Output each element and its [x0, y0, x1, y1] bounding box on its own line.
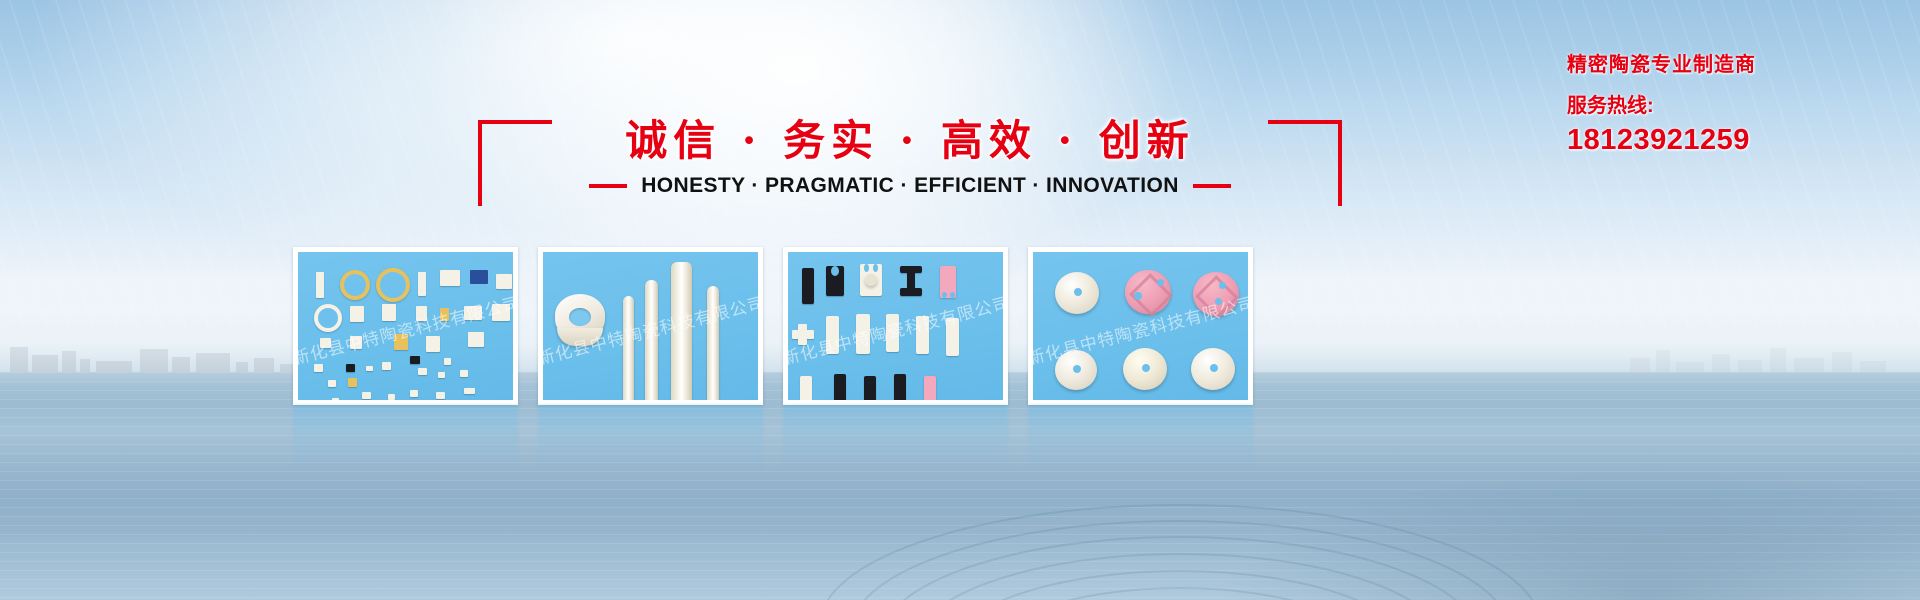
contact-block: 精密陶瓷专业制造商 服务热线: 18123921259 [1567, 50, 1907, 158]
hotline-label: 服务热线: [1567, 92, 1907, 120]
slogan-chinese: 诚信 · 务实 · 高效 · 创新 [470, 112, 1350, 170]
slogan-block: 诚信 · 务实 · 高效 · 创新 HONESTY · PRAGMATIC · … [470, 112, 1350, 222]
product-panel-4[interactable]: 新化县中特陶瓷科技有限公司 [1028, 247, 1253, 405]
product-gallery: 新化县中特陶瓷科技有限公司 新化县中特陶瓷科技有限公司 [293, 247, 1273, 405]
product-panel-3[interactable]: 新化县中特陶瓷科技有限公司 [783, 247, 1008, 405]
promo-banner: 诚信 · 务实 · 高效 · 创新 HONESTY · PRAGMATIC · … [0, 0, 1920, 600]
product-panel-1[interactable]: 新化县中特陶瓷科技有限公司 [293, 247, 518, 405]
hotline-phone-number[interactable]: 18123921259 [1567, 122, 1907, 158]
dash-right-decoration [1193, 184, 1231, 188]
reflective-ground [0, 372, 1920, 600]
dash-left-decoration [589, 184, 627, 188]
slogan-english: HONESTY · PRAGMATIC · EFFICIENT · INNOVA… [641, 174, 1179, 198]
company-tagline: 精密陶瓷专业制造商 [1567, 50, 1907, 80]
product-panel-2[interactable]: 新化县中特陶瓷科技有限公司 [538, 247, 763, 405]
city-skyline-right [1620, 330, 1920, 374]
slogan-english-row: HONESTY · PRAGMATIC · EFFICIENT · INNOVA… [470, 174, 1350, 198]
